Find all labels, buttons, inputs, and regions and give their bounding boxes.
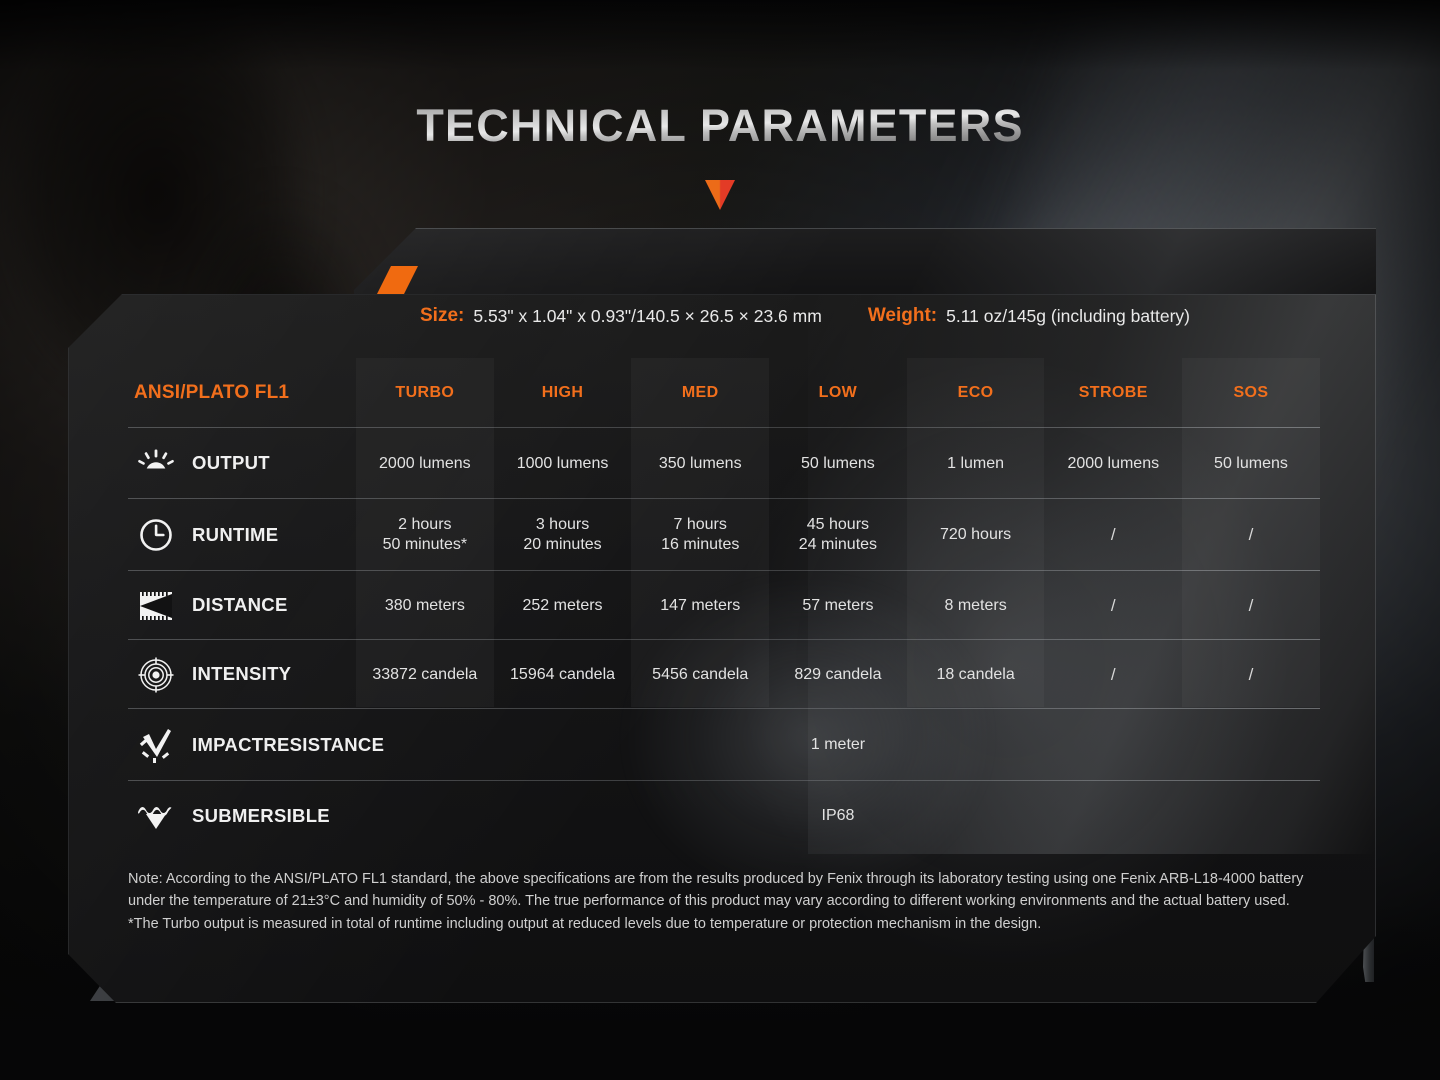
table-row: INTENSITY 33872 candela 15964 candela 54… [128,640,1320,709]
row-label-impact-resistance: IMPACTRESISTANCE [128,709,356,781]
header-mode-turbo: TURBO [356,358,494,428]
cell-intensity-low: 829 candela [769,640,907,709]
cell-output-turbo: 2000 lumens [356,428,494,499]
row-label-output: OUTPUT [128,428,356,499]
footnote-line-1: Note: According to the ANSI/PLATO FL1 st… [128,868,1320,913]
row-label-text: INTENSITY [192,664,291,685]
table-row: DISTANCE 380 meters 252 meters 147 meter… [128,571,1320,640]
cell-runtime-eco: 720 hours [907,499,1045,571]
ansi-plato-fl1-label: ANSI/PLATO FL1 [134,382,289,404]
weight-value: 5.11 oz/145g (including battery) [946,306,1190,327]
row-label-text: OUTPUT [192,453,270,474]
header-mode-sos: SOS [1182,358,1320,428]
target-intensity-icon [134,658,178,692]
cell-intensity-med: 5456 candela [631,640,769,709]
header-mode-strobe: STROBE [1044,358,1182,428]
header-mode-high: HIGH [494,358,632,428]
header-mode-med: MED [631,358,769,428]
clock-icon [134,518,178,552]
size-label: Size: [420,305,464,327]
cell-distance-sos: / [1182,571,1320,640]
table-row: OUTPUT 2000 lumens 1000 lumens 350 lumen… [128,428,1320,499]
cell-intensity-strobe: / [1044,640,1182,709]
cell-runtime-high: 3 hours20 minutes [494,499,632,571]
cell-runtime-med: 7 hours16 minutes [631,499,769,571]
row-label-submersible: SUBMERSIBLE [128,781,356,851]
cell-intensity-eco: 18 candela [907,640,1045,709]
cell-intensity-high: 15964 candela [494,640,632,709]
cell-output-high: 1000 lumens [494,428,632,499]
header-label-cell: ANSI/PLATO FL1 [128,358,356,428]
sunburst-icon [134,447,178,481]
chevron-body [705,180,735,210]
header-mode-low: LOW [769,358,907,428]
table-row: RUNTIME 2 hours50 minutes* 3 hours20 min… [128,499,1320,571]
water-submersible-icon [134,799,178,833]
row-label-intensity: INTENSITY [128,640,356,709]
specifications-table: ANSI/PLATO FL1 TURBO HIGH MED LOW ECO ST… [128,358,1320,851]
table-row: SUBMERSIBLE IP68 [128,781,1320,851]
cell-distance-low: 57 meters [769,571,907,640]
row-label-text: DISTANCE [192,595,288,616]
table-row: IMPACTRESISTANCE 1 meter [128,709,1320,781]
cell-distance-med: 147 meters [631,571,769,640]
table-header-row: ANSI/PLATO FL1 TURBO HIGH MED LOW ECO ST… [128,358,1320,428]
footnote-line-2: *The Turbo output is measured in total o… [128,913,1320,935]
size-value: 5.53" x 1.04" x 0.93"/140.5 × 26.5 × 23.… [473,306,821,327]
row-label-text: RUNTIME [192,525,278,546]
page-title-container: TECHNICAL PARAMETERS [0,100,1440,152]
impact-drop-icon [134,728,178,762]
weight-label: Weight: [868,305,937,327]
row-label-distance: DISTANCE [128,571,356,640]
cell-output-sos: 50 lumens [1182,428,1320,499]
cell-runtime-low: 45 hours24 minutes [769,499,907,571]
header-mode-eco: ECO [907,358,1045,428]
cell-output-strobe: 2000 lumens [1044,428,1182,499]
cell-runtime-strobe: / [1044,499,1182,571]
cell-submersible-value: IP68 [356,781,1320,851]
size-weight-row: Size: 5.53" x 1.04" x 0.93"/140.5 × 26.5… [420,302,1340,330]
cell-output-med: 350 lumens [631,428,769,499]
row-label-text: SUBMERSIBLE [192,806,330,827]
cell-distance-high: 252 meters [494,571,632,640]
chevron-down-icon [694,180,746,214]
cell-runtime-turbo: 2 hours50 minutes* [356,499,494,571]
cell-intensity-turbo: 33872 candela [356,640,494,709]
footnote-container: Note: According to the ANSI/PLATO FL1 st… [128,868,1320,935]
row-label-runtime: RUNTIME [128,499,356,571]
cell-distance-strobe: / [1044,571,1182,640]
cell-intensity-sos: / [1182,640,1320,709]
cell-output-low: 50 lumens [769,428,907,499]
cell-distance-turbo: 380 meters [356,571,494,640]
chevron-divider-container [0,180,1440,220]
cell-impact-resistance-value: 1 meter [356,709,1320,781]
cell-runtime-sos: / [1182,499,1320,571]
beam-distance-icon [134,589,178,623]
cell-output-eco: 1 lumen [907,428,1045,499]
cell-distance-eco: 8 meters [907,571,1045,640]
page-title: TECHNICAL PARAMETERS [416,100,1023,152]
